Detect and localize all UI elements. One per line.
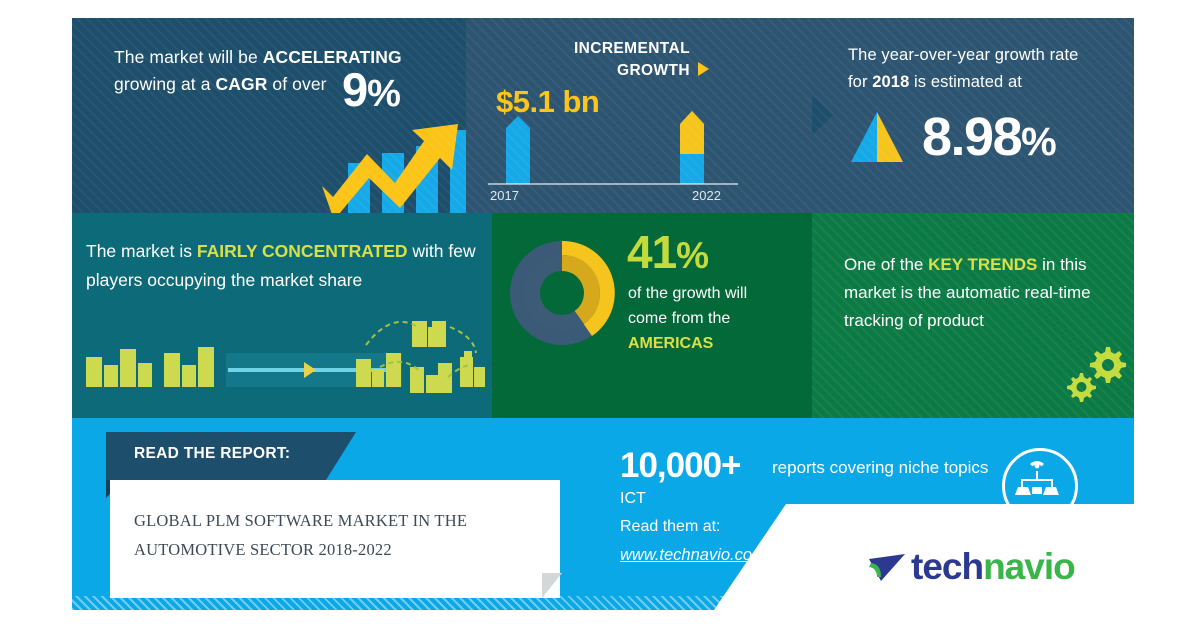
row-footer: READ THE REPORT: GLOBAL PLM SOFTWARE MAR…: [72, 418, 1134, 610]
americas-text-2: come from the: [628, 310, 730, 327]
concentration-statement: The market is FAIRLY CONCENTRATED with f…: [86, 237, 484, 295]
report-title: GLOBAL PLM SOFTWARE MARKET IN THE AUTOMO…: [134, 506, 534, 564]
yoy-statement: The year-over-year growth rate for 2018 …: [848, 42, 1118, 96]
yoy-year: 2018: [872, 73, 909, 91]
gears-icon: [1062, 341, 1130, 407]
growth-bar-chart-svg: [320, 108, 466, 213]
trends-highlight: KEY TRENDS: [928, 255, 1037, 274]
incremental-growth-title-l1: INCREMENTAL: [574, 40, 690, 57]
read-them-at-label: Read them at:: [620, 518, 721, 536]
americas-value-number: 41: [627, 226, 676, 278]
panel-yoy-growth: The year-over-year growth rate for 2018 …: [812, 18, 1134, 213]
bar-2017: [506, 116, 530, 184]
network-icon: [1005, 451, 1069, 515]
trends-text-1: One of the: [844, 255, 928, 274]
americas-region: AMERICAS: [628, 335, 713, 352]
read-the-report-ribbon: READ THE REPORT:: [106, 432, 356, 480]
donut-hole: [540, 271, 584, 315]
infographic-canvas: The market will be ACCELERATING growing …: [0, 0, 1200, 627]
row-middle: The market is FAIRLY CONCENTRATED with f…: [72, 213, 1134, 418]
concentration-text-1: The market is: [86, 241, 197, 261]
growth-triangle-icon: [847, 110, 907, 165]
americas-text-1: of the growth will: [628, 285, 747, 302]
technavio-mark-icon: [867, 551, 907, 585]
footer-hatch-strip: [72, 596, 1134, 610]
cagr-accelerating: ACCELERATING: [263, 47, 402, 67]
axis-label-2022: 2022: [692, 188, 721, 203]
bar-2022-increment: [680, 111, 704, 154]
panel-americas-share: 41% of the growth will come from the AME…: [492, 213, 812, 418]
americas-value-unit: %: [676, 235, 708, 276]
infographic: The market will be ACCELERATING growing …: [72, 18, 1134, 610]
americas-donut-chart: [502, 233, 622, 353]
americas-statement: of the growth will come from the AMERICA…: [628, 281, 808, 356]
report-title-line-2: AUTOMOTIVE SECTOR 2018-2022: [134, 540, 392, 559]
growth-bar-chart: [320, 108, 466, 213]
trends-statement: One of the KEY TRENDS in this market is …: [844, 251, 1116, 335]
cagr-label: CAGR: [216, 74, 268, 94]
ict-icon-circle: [1002, 448, 1078, 524]
yoy-value: 8.98%: [922, 106, 1055, 168]
city-cluster-left-icon: [86, 347, 214, 387]
technavio-logo-navio: navio: [983, 546, 1075, 587]
yoy-value-unit: %: [1021, 120, 1055, 164]
incremental-axis-line: [488, 183, 738, 185]
panel-incremental-growth: INCREMENTAL GROWTH $5.1 bn 2017 2022: [466, 18, 812, 213]
americas-value: 41%: [627, 229, 708, 279]
incremental-growth-title-l2: GROWTH: [617, 62, 690, 79]
cagr-text-3: of over: [267, 74, 326, 94]
cagr-text-1: The market will be: [114, 47, 263, 67]
technavio-url-link[interactable]: www.technavio.com: [620, 546, 766, 565]
axis-label-2017: 2017: [490, 188, 519, 203]
concentration-highlight: FAIRLY CONCENTRATED: [197, 241, 408, 261]
row-top: The market will be ACCELERATING growing …: [72, 18, 1134, 213]
report-title-line-1: GLOBAL PLM SOFTWARE MARKET IN THE: [134, 511, 467, 530]
panel-cagr: The market will be ACCELERATING growing …: [72, 18, 466, 213]
yoy-text-3: is estimated at: [909, 73, 1022, 91]
technavio-logo: technavio: [867, 546, 1075, 588]
panel-arrow-notch: [812, 18, 833, 213]
yoy-value-number: 8.98: [922, 107, 1021, 167]
reports-caption: reports covering niche topics: [772, 458, 988, 478]
yoy-text-1: The year-over-year growth rate: [848, 46, 1078, 64]
incremental-bars-svg: [484, 110, 748, 186]
incremental-growth-title: INCREMENTAL GROWTH: [500, 38, 690, 82]
panel-key-trends: One of the KEY TRENDS in this market is …: [812, 213, 1134, 418]
yoy-text-2: for: [848, 73, 872, 91]
report-category: ICT: [620, 490, 646, 508]
read-the-report-label: READ THE REPORT:: [134, 445, 290, 463]
reports-count: 10,000+: [620, 446, 741, 486]
technavio-logo-tech: tech: [911, 546, 983, 587]
panel-market-concentration: The market is FAIRLY CONCENTRATED with f…: [72, 213, 492, 418]
cagr-text-2: growing at a: [114, 74, 216, 94]
play-triangle-icon: [698, 62, 709, 76]
city-consolidation-graphic: [80, 321, 492, 411]
